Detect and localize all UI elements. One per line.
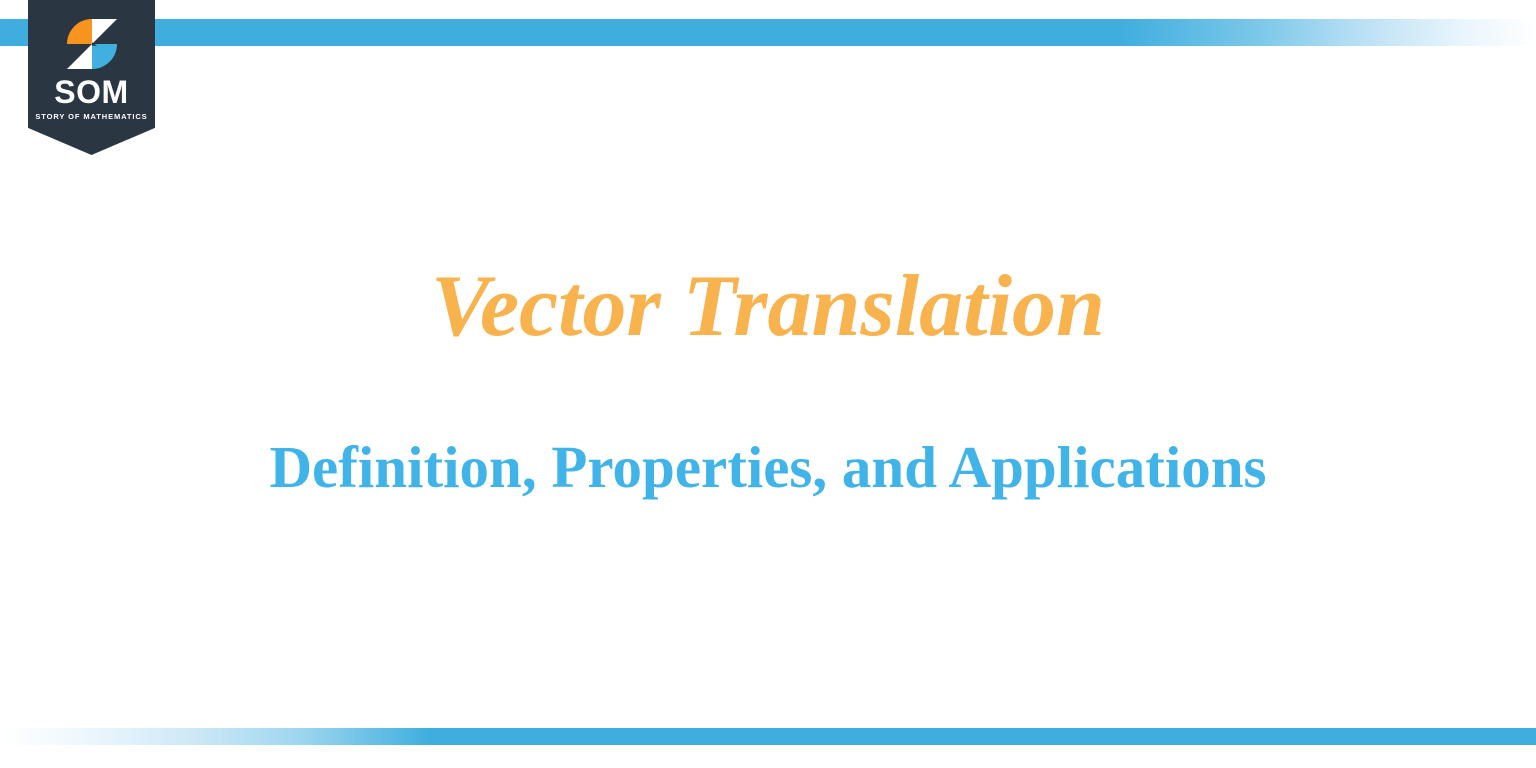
slide-canvas: SOM STORY OF MATHEMATICS Vector Translat… xyxy=(0,0,1536,768)
som-logo-badge: SOM STORY OF MATHEMATICS xyxy=(28,0,155,155)
slide-subtitle: Definition, Properties, and Applications xyxy=(0,362,1536,500)
som-wordmark: SOM xyxy=(28,76,155,108)
headline-block: Vector Translation Definition, Propertie… xyxy=(0,252,1536,500)
som-tagline: STORY OF MATHEMATICS xyxy=(28,112,155,121)
bottom-accent-rule xyxy=(0,728,1536,745)
slide-title: Vector Translation xyxy=(0,252,1536,362)
top-accent-rule xyxy=(0,19,1536,46)
som-s-monogram-icon xyxy=(63,17,121,71)
